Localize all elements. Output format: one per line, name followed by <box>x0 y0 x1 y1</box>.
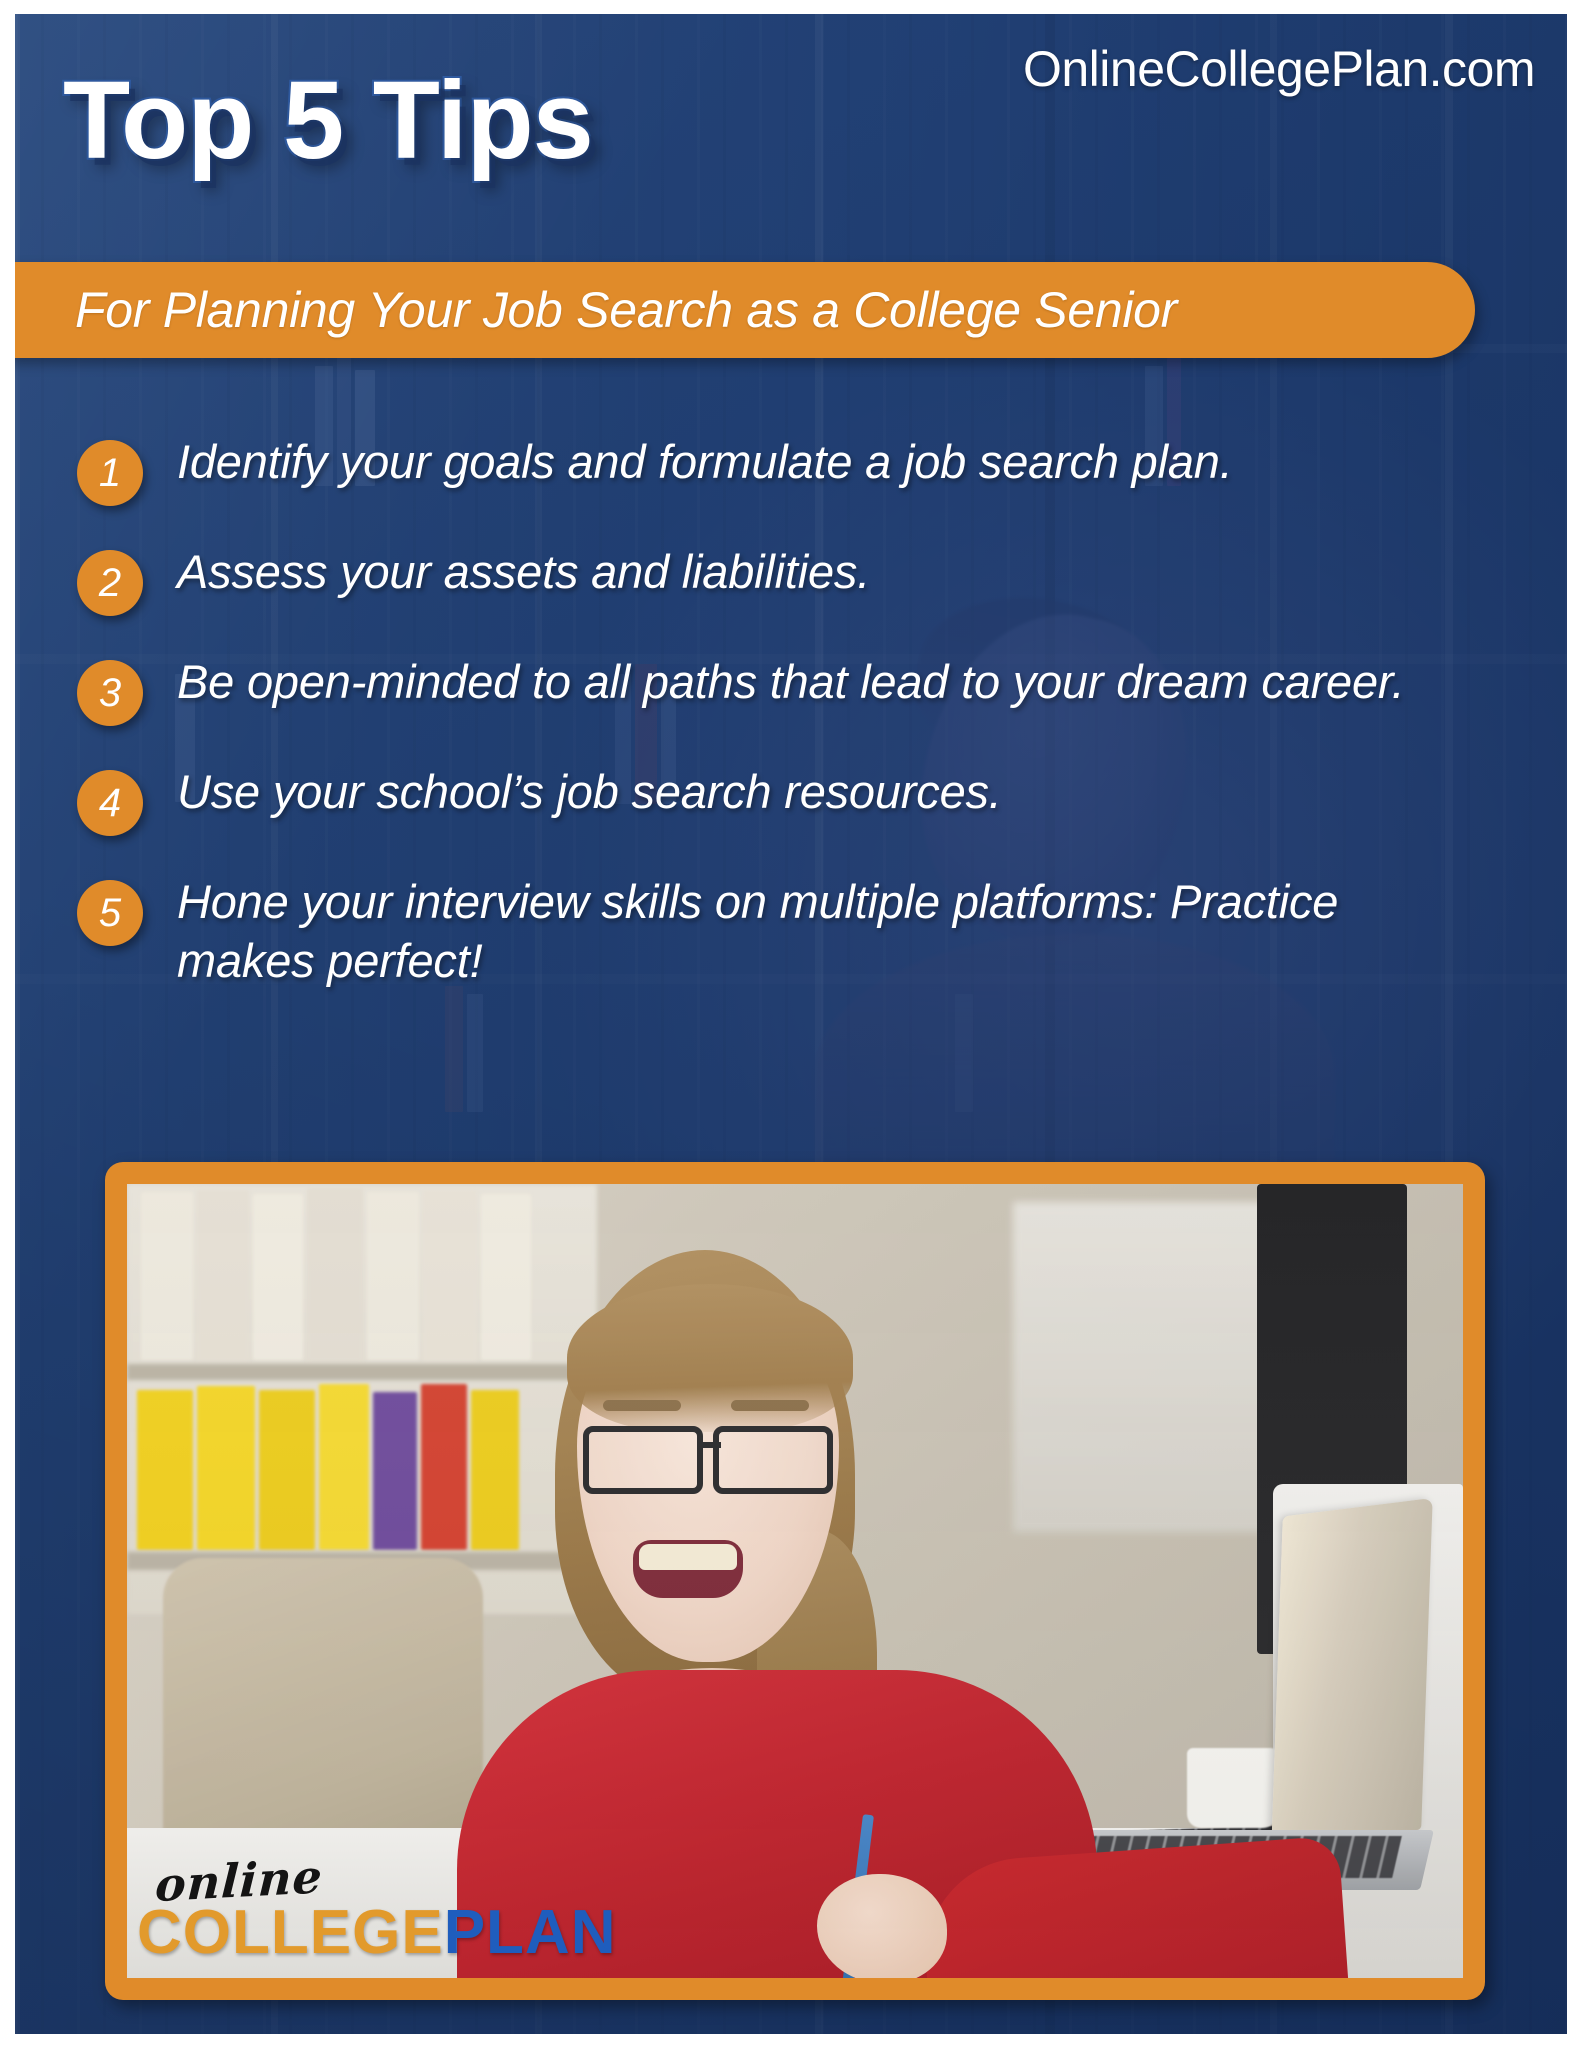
page-title: Top 5 Tips <box>63 66 593 176</box>
subtitle-text: For Planning Your Job Search as a Colleg… <box>75 281 1177 339</box>
tip-text: Hone your interview skills on multiple p… <box>177 872 1427 990</box>
tip-text: Use your school’s job search resources. <box>177 762 1002 821</box>
tip-item-3: 3 Be open-minded to all paths that lead … <box>15 652 1567 726</box>
tip-number-badge: 1 <box>77 440 143 506</box>
logo-plan-text: PLAN <box>444 1898 617 1967</box>
tip-number-badge: 3 <box>77 660 143 726</box>
tip-item-4: 4 Use your school’s job search resources… <box>15 762 1567 836</box>
subtitle-banner: For Planning Your Job Search as a Colleg… <box>15 262 1475 358</box>
tip-text: Assess your assets and liabilities. <box>177 542 870 601</box>
tip-number-badge: 5 <box>77 880 143 946</box>
header: OnlineCollegePlan.com Top 5 Tips <box>15 14 1567 264</box>
tips-list: 1 Identify your goals and formulate a jo… <box>15 432 1567 1026</box>
tip-text: Be open-minded to all paths that lead to… <box>177 652 1404 711</box>
tip-item-5: 5 Hone your interview skills on multiple… <box>15 872 1567 990</box>
tip-number-badge: 4 <box>77 770 143 836</box>
tip-item-2: 2 Assess your assets and liabilities. <box>15 542 1567 616</box>
site-url: OnlineCollegePlan.com <box>1023 40 1535 98</box>
infographic-page: OnlineCollegePlan.com Top 5 Tips For Pla… <box>15 14 1567 2034</box>
tip-number-badge: 2 <box>77 550 143 616</box>
tip-item-1: 1 Identify your goals and formulate a jo… <box>15 432 1567 506</box>
brand-logo: online COLLEGEPLAN <box>137 1850 616 1964</box>
tip-text: Identify your goals and formulate a job … <box>177 432 1233 491</box>
logo-wordmark: COLLEGEPLAN <box>137 1902 616 1964</box>
